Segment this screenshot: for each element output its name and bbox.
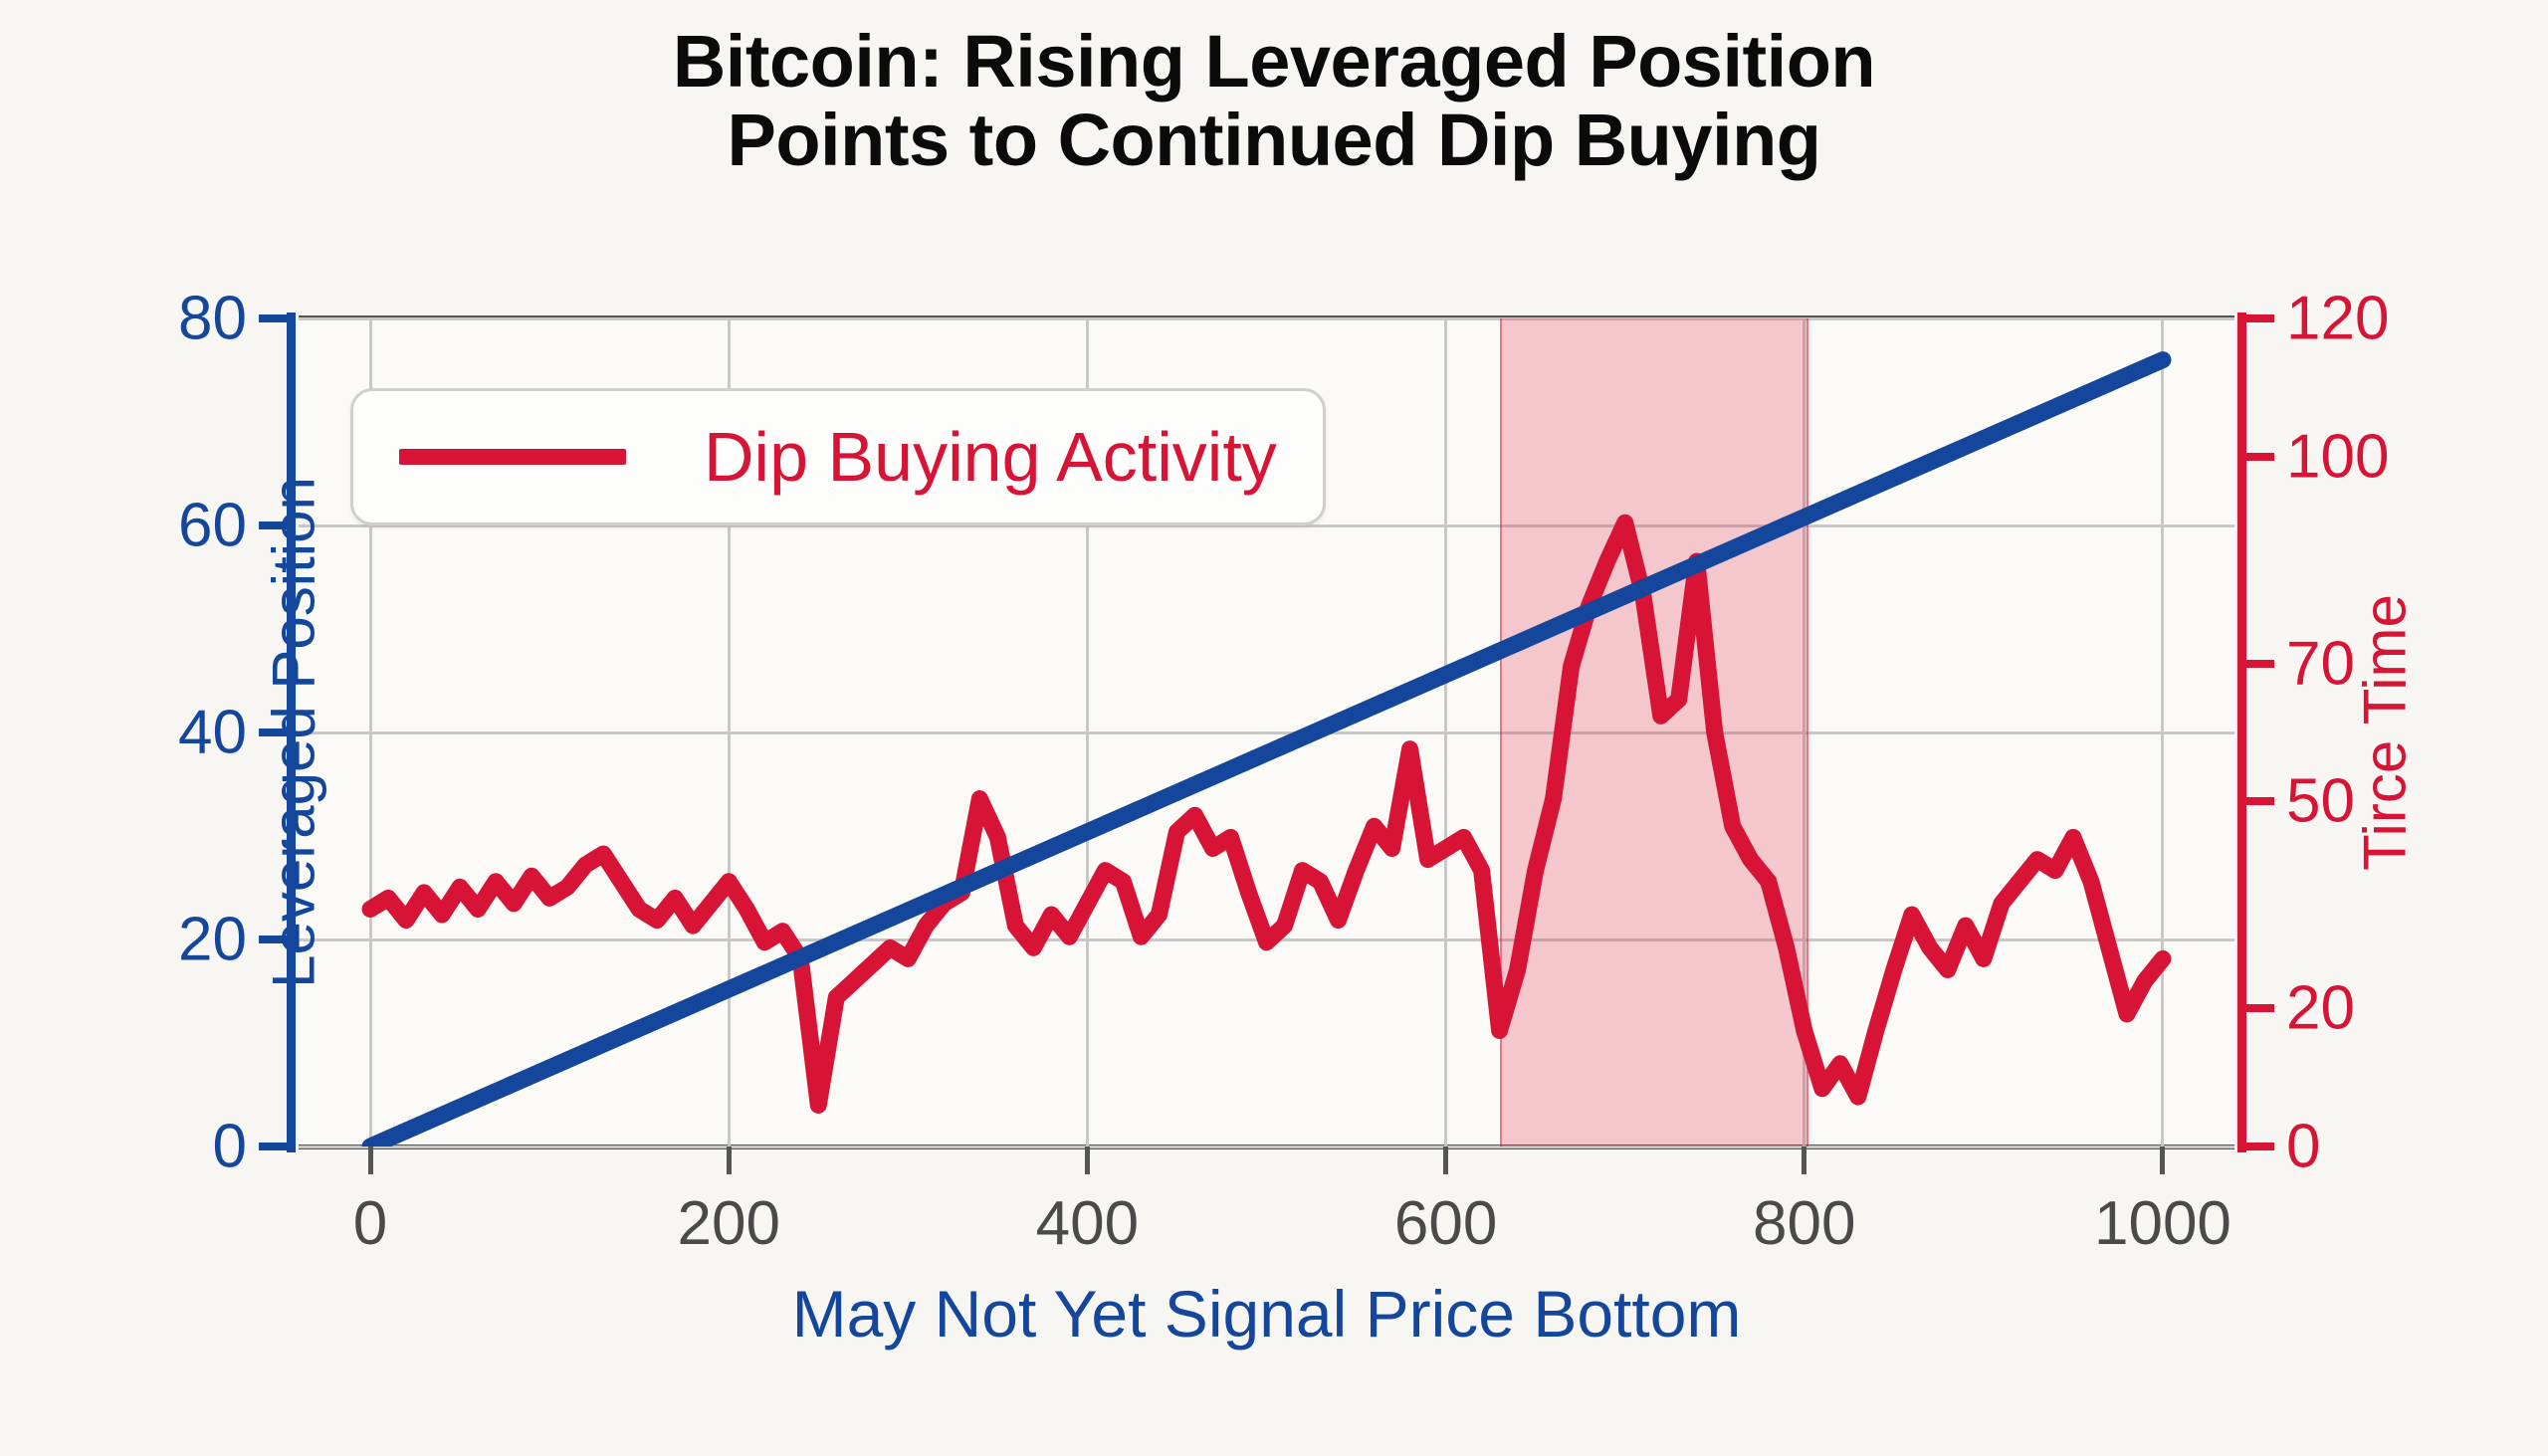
- plot-area: 020406080 0205070100120 0200400600800100…: [299, 318, 2234, 1146]
- right-axis-spine: [2237, 312, 2246, 1152]
- dip-buying-activity-line: [370, 522, 2163, 1105]
- left-axis-tick-label: 0: [213, 1112, 247, 1182]
- x-axis-tick-label: 0: [353, 1188, 387, 1259]
- chart-title: Bitcoin: Rising Leveraged Position Point…: [0, 22, 2548, 179]
- right-axis-tick-label: 0: [2286, 1112, 2320, 1182]
- right-axis-tick-label: 20: [2286, 973, 2355, 1044]
- x-axis-tick-label: 1000: [2094, 1188, 2231, 1259]
- legend-item-label: Dip Buying Activity: [704, 417, 1277, 497]
- left-axis-label: Leveraged Position: [259, 477, 327, 988]
- x-axis-label: May Not Yet Signal Price Bottom: [299, 1276, 2234, 1352]
- x-axis-tick-label: 600: [1394, 1188, 1497, 1259]
- x-axis-tick: [2160, 1146, 2165, 1174]
- right-axis-tick-label: 100: [2286, 421, 2389, 492]
- right-axis-tick: [2244, 453, 2274, 461]
- right-axis-tick-label: 50: [2286, 766, 2355, 837]
- left-axis-tick-label: 80: [178, 284, 247, 354]
- left-axis-tick-label: 20: [178, 905, 247, 975]
- right-axis-label: Tirce Time: [2351, 594, 2420, 871]
- x-axis-tick-label: 800: [1753, 1188, 1855, 1259]
- chart-title-line-1: Bitcoin: Rising Leveraged Position: [0, 22, 2548, 101]
- x-axis-tick-label: 200: [677, 1188, 779, 1259]
- x-axis-tick: [1802, 1146, 1806, 1174]
- right-axis-tick: [2244, 660, 2274, 668]
- right-axis-tick: [2244, 1004, 2274, 1012]
- left-axis-tick: [259, 314, 289, 322]
- right-axis-tick: [2244, 314, 2274, 322]
- right-axis-tick-label: 70: [2286, 628, 2355, 699]
- line-swatch-icon: [399, 449, 626, 465]
- right-axis-tick: [2244, 1143, 2274, 1150]
- right-axis-tick: [2244, 797, 2274, 805]
- x-axis-tick: [1085, 1146, 1090, 1174]
- left-axis-tick-label: 60: [178, 491, 247, 561]
- chart-legend[interactable]: Dip Buying Activity: [350, 388, 1326, 525]
- left-axis-tick-label: 40: [178, 698, 247, 768]
- x-axis-tick: [727, 1146, 732, 1174]
- x-axis-tick-label: 400: [1036, 1188, 1139, 1259]
- chart-canvas: Bitcoin: Rising Leveraged Position Point…: [0, 0, 2548, 1456]
- x-axis-tick: [1443, 1146, 1448, 1174]
- x-axis-tick: [368, 1146, 373, 1174]
- chart-title-line-2: Points to Continued Dip Buying: [0, 101, 2548, 179]
- left-axis-tick: [259, 1143, 289, 1150]
- right-axis-tick-label: 120: [2286, 284, 2389, 354]
